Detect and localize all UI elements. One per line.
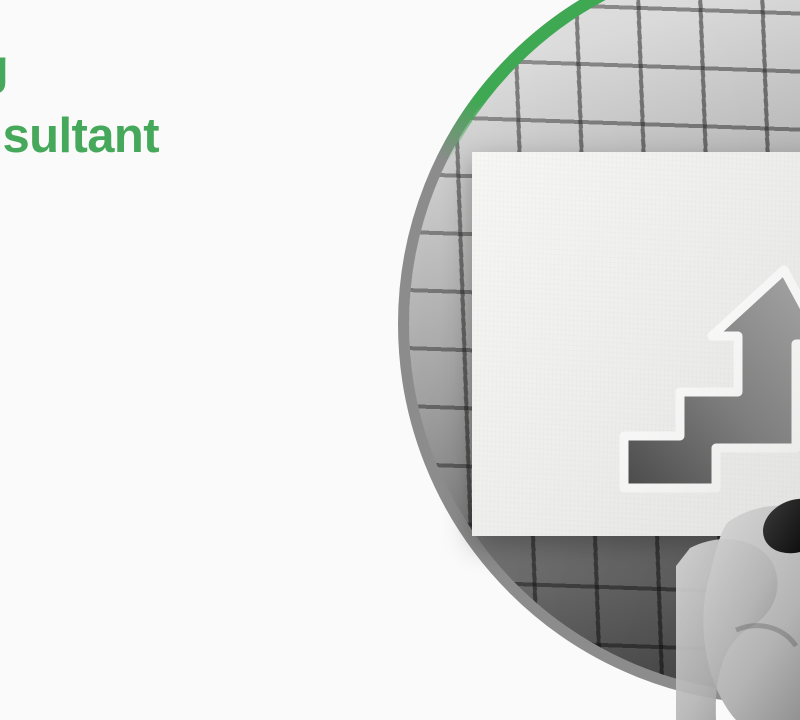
hand-holding-card <box>676 470 800 720</box>
banner-canvas: Marketing ation Consultant ines Your s t… <box>0 0 800 720</box>
